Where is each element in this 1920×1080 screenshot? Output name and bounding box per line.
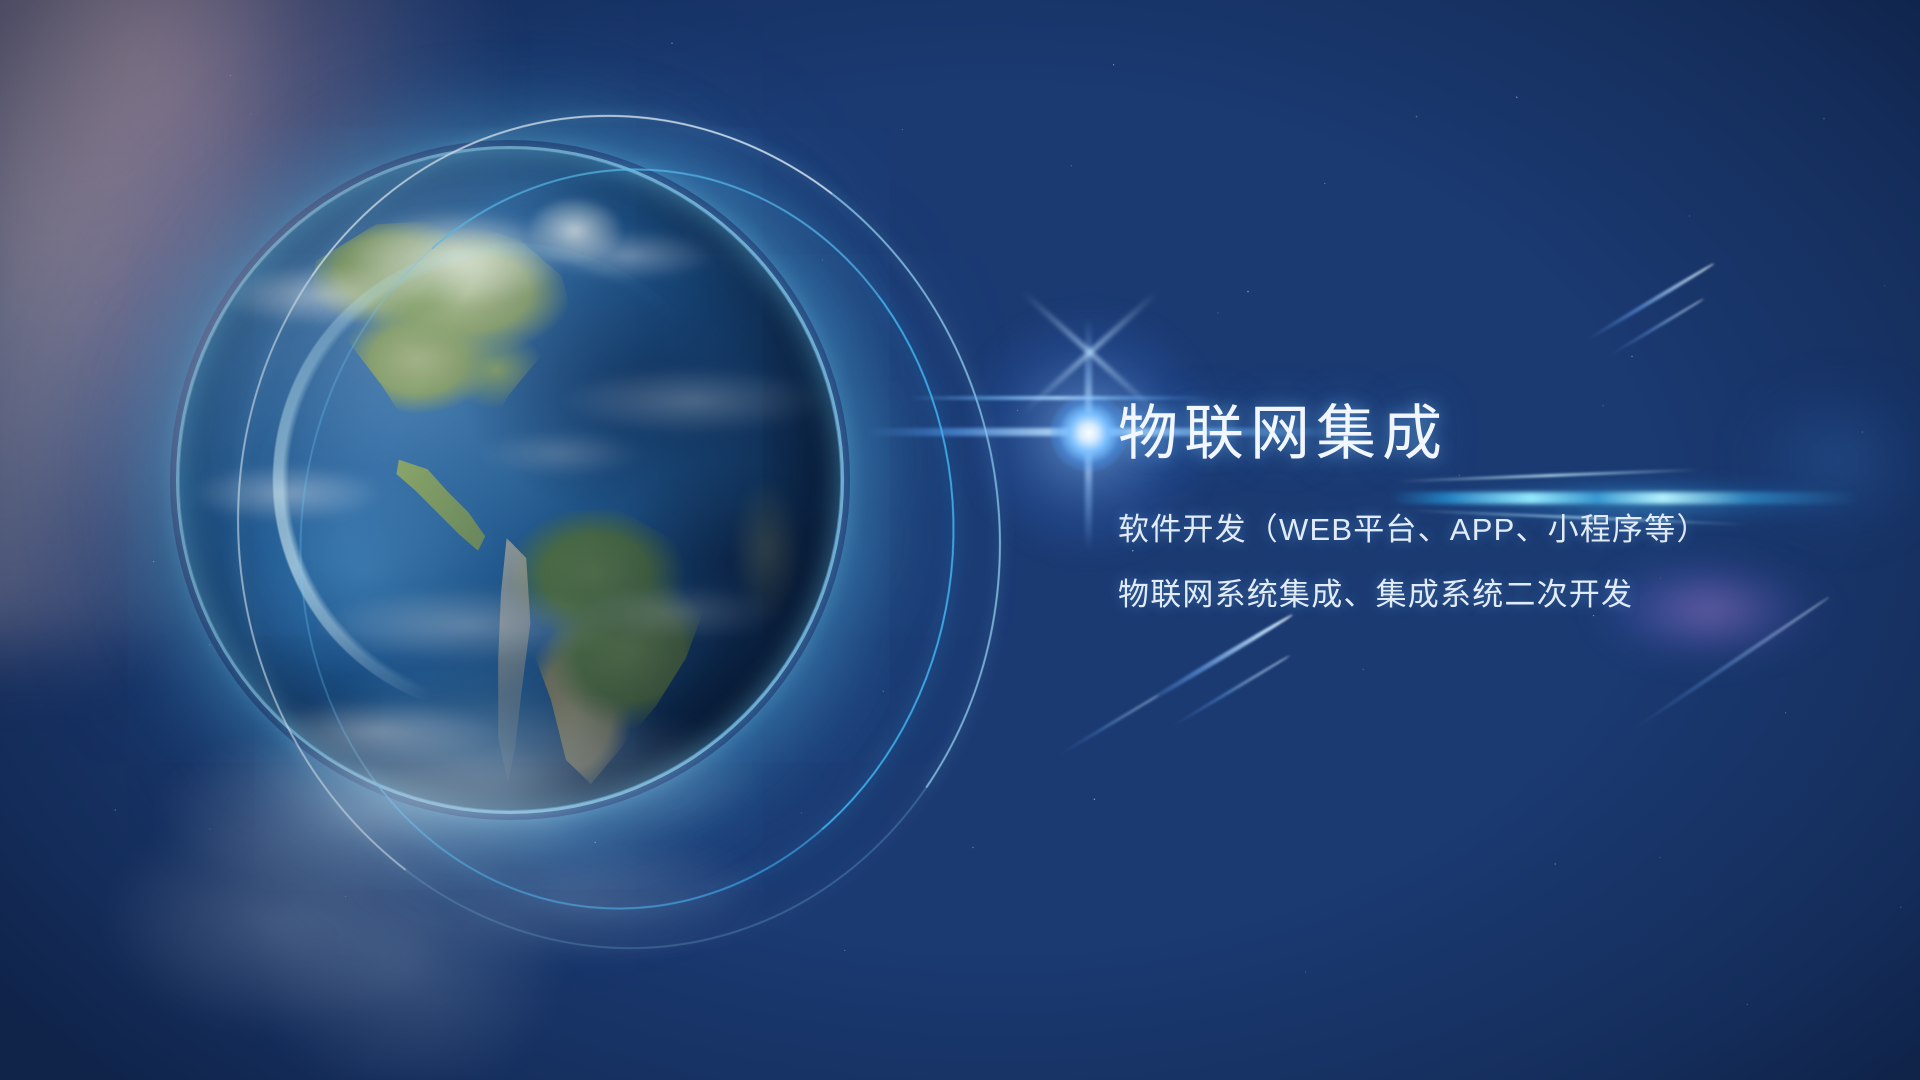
hero-banner: 物联网集成 软件开发（WEB平台、APP、小程序等） 物联网系统集成、集成系统二…	[0, 0, 1920, 1080]
meteor-streak	[1585, 262, 1716, 343]
globe-sphere	[180, 150, 840, 810]
lens-flare-diagonal-ray	[1021, 290, 1158, 414]
page-title: 物联网集成	[1118, 404, 1878, 464]
meteor-streak	[1132, 612, 1294, 712]
lens-flare-core	[1050, 394, 1128, 472]
subtitle-line-2: 物联网系统集成、集成系统二次开发	[1118, 569, 1878, 614]
meteor-streak	[1169, 654, 1291, 729]
meteor-streak	[1056, 693, 1160, 757]
earth-globe	[150, 120, 870, 880]
banner-text-block: 物联网集成 软件开发（WEB平台、APP、小程序等） 物联网系统集成、集成系统二…	[1118, 404, 1878, 614]
lens-flare-vertical-ray	[1085, 318, 1092, 550]
meteor-streak	[1607, 297, 1705, 357]
lens-flare-diagonal-ray	[1021, 290, 1158, 414]
subtitle-line-1: 软件开发（WEB平台、APP、小程序等）	[1118, 504, 1878, 549]
meteor-streak	[1629, 595, 1830, 733]
day-night-terminator	[180, 150, 840, 810]
